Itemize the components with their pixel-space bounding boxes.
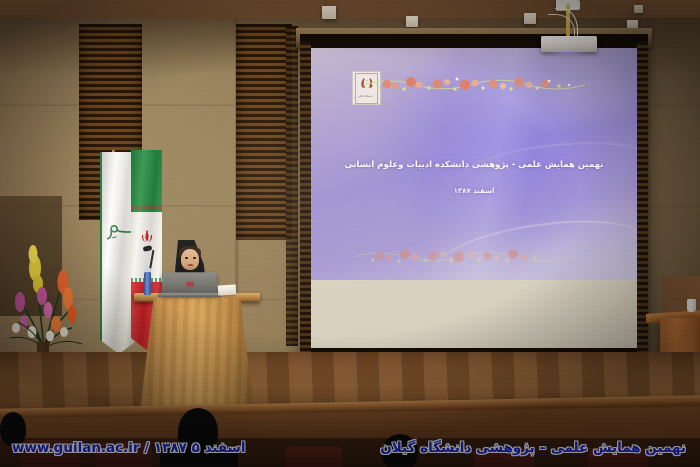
ceiling-light-icon [634,5,643,13]
slide-swoosh-lower [430,215,637,275]
podium-laptop[interactable] [161,272,217,295]
slide-date: اسفند ۱۳۸۷ [319,187,629,195]
audience-chair [286,446,342,467]
ceiling-light-icon [322,6,336,19]
flag-kufic-band [131,206,162,210]
paper-cup [687,299,696,312]
speaker-face [181,249,199,270]
projected-slide: دانشگاه گیلان [311,48,637,280]
speaker-eye [193,257,196,259]
water-bottle [144,272,151,295]
screenshot-root: دانشگاه گیلان [0,0,700,467]
logo-caption: دانشگاه گیلان [355,95,376,100]
caption-left-url-date: www.guilan.ac.ir / ۱۳۸۷ اسفند ۵ [12,440,245,456]
projection-screen-surface: دانشگاه گیلان [311,48,637,348]
laptop-base [158,293,221,297]
ceiling-light-icon [406,16,418,27]
wood-slat-panel-screen-edge [286,26,298,346]
wooden-podium [140,298,254,410]
slide-title: نهمین همایش علمی - پژوهشی دانشکده ادبیات… [319,160,629,170]
screen-side-rail-right [637,42,648,352]
papers [218,284,237,295]
projector-lens-glow [548,50,588,57]
guilan-emblem-icon [360,77,374,90]
speaker-mouth [188,264,193,266]
flag-calligraphy: ﷽ [106,210,133,297]
floral-ornament-icon [359,73,589,95]
laptop-logo-icon [185,281,193,286]
wood-slat-panel-center [236,24,292,240]
iran-emblem-icon [138,230,155,247]
screen-side-rail-left [300,42,311,352]
caption-right-event-title: نهمین همایش علمی – پژوهشی دانشگاه گیلان [380,440,686,456]
speaker-eye [185,257,188,259]
ceiling-light-icon [524,13,536,24]
